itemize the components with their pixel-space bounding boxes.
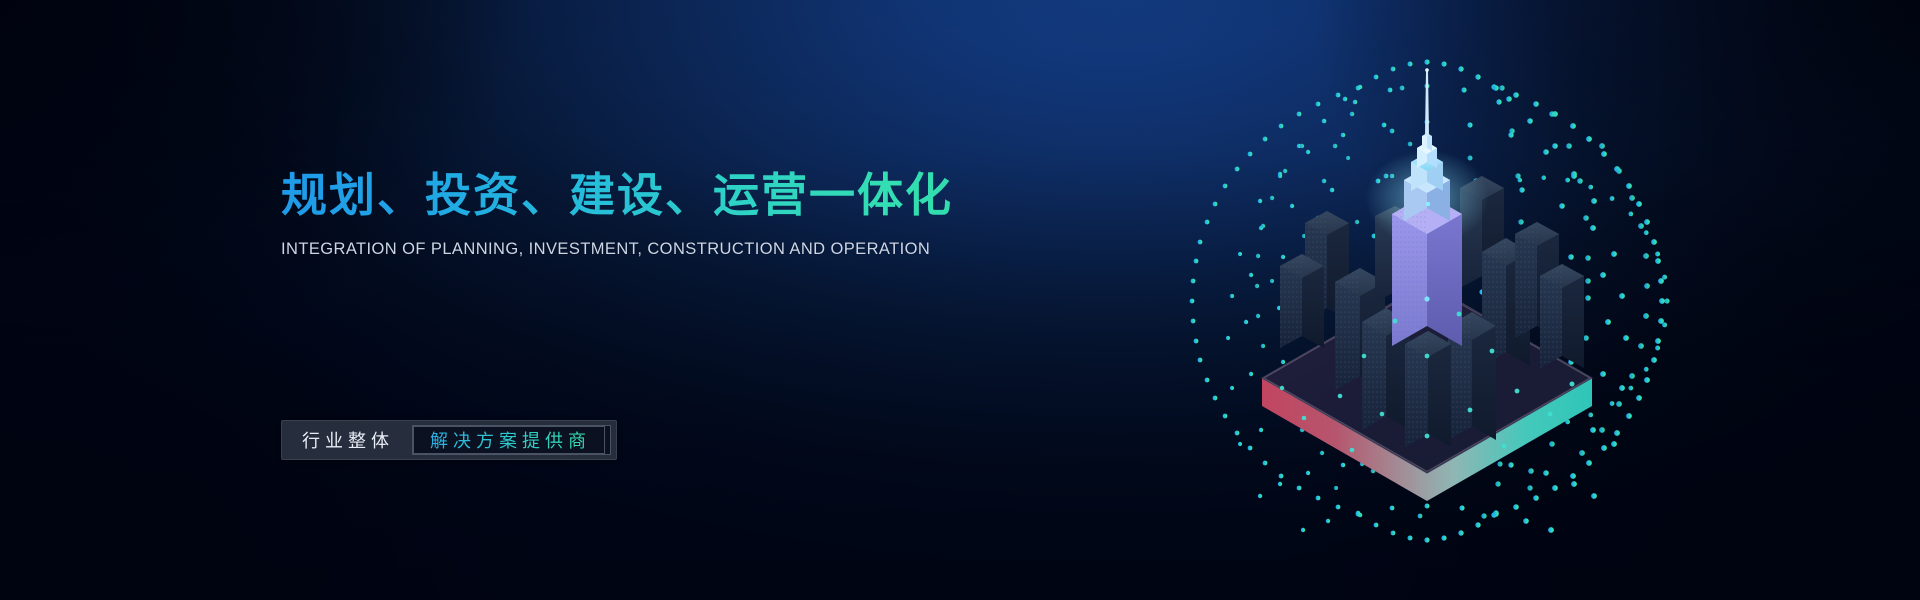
page-subtitle: INTEGRATION OF PLANNING, INVESTMENT, CON… [281, 240, 1061, 259]
tagline-badge-right-label: 解决方案提供商 [413, 426, 605, 454]
hero-banner: 规划、投资、建设、运营一体化 INTEGRATION OF PLANNING, … [0, 0, 1920, 600]
tagline-badge-left-label: 行业整体 [282, 421, 412, 459]
page-title: 规划、投资、建设、运营一体化 [281, 168, 1061, 222]
building-front-center [1405, 331, 1451, 447]
smart-city-globe-illustration [1152, 26, 1702, 576]
banner-text-block: 规划、投资、建设、运营一体化 INTEGRATION OF PLANNING, … [281, 168, 1061, 259]
building-far-right-short [1540, 264, 1584, 368]
building-left-short [1280, 254, 1324, 348]
tagline-badge[interactable]: 行业整体 解决方案提供商 [281, 420, 617, 460]
tagline-badge-right-box: 解决方案提供商 [412, 425, 611, 455]
